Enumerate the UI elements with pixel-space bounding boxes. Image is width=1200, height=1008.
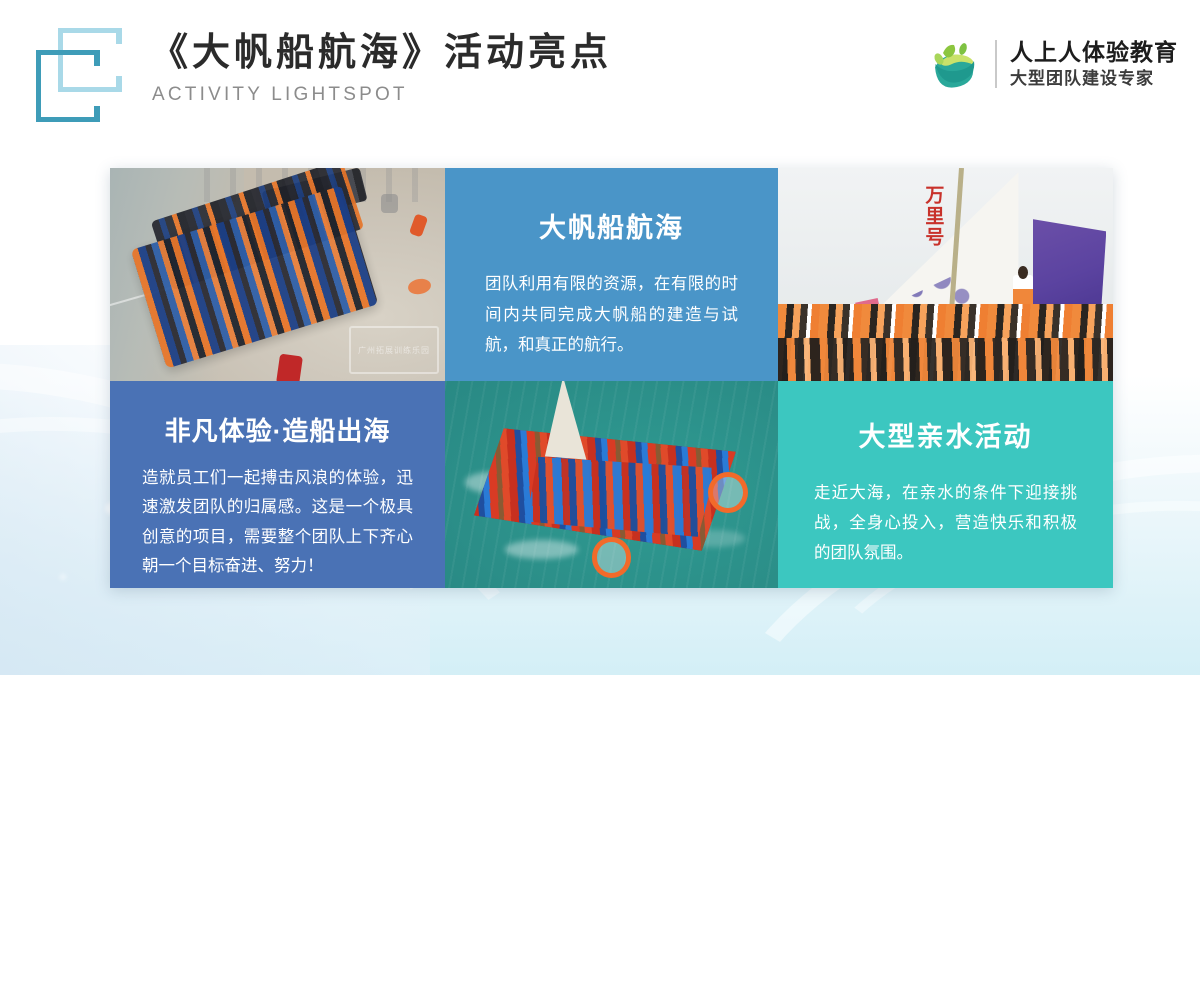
highlight-grid: 广州拓展训练乐园 大帆船航海 团队利用有限的资源，在有限的时间内共同完成大帆船的… [110,168,1113,588]
raft-at-sea-photo [445,381,778,588]
brand-tagline: 大型团队建设专家 [1010,68,1178,89]
card-body: 造就员工们一起搏击风浪的体验，迅速激发团队的归属感。这是一个极具创意的项目，需要… [142,464,413,581]
beach-aerial-photo: 广州拓展训练乐园 [110,168,445,381]
sail-banner-text: 万里号 [922,185,943,248]
card-heading: 大型亲水活动 [778,415,1113,454]
logo-divider [995,40,997,88]
circular-leaf-logo-icon [923,33,985,95]
card-body: 走近大海，在亲水的条件下迎接挑战，全身心投入，营造快乐和积极的团队氛围。 [814,478,1077,568]
card-heading: 非凡体验·造船出海 [110,411,445,448]
page-subtitle: ACTIVITY LIGHTSPOT [152,84,612,106]
sailing-intro-card: 大帆船航海 团队利用有限的资源，在有限的时间内共同完成大帆船的建造与试航，和真正… [445,168,778,381]
card-body: 团队利用有限的资源，在有限的时间内共同完成大帆船的建造与试航，和真正的航行。 [485,269,738,361]
title-group: 《大帆船航海》活动亮点 ACTIVITY LIGHTSPOT [150,30,612,106]
background-bubble-icon [60,574,66,580]
card-heading: 大帆船航海 [445,206,778,245]
extraordinary-experience-card: 非凡体验·造船出海 造就员工们一起搏击风浪的体验，迅速激发团队的归属感。这是一个… [110,381,445,588]
brand-name: 人上人体验教育 [1010,39,1178,66]
sail-flag-crowd-photo: 万里号 [778,168,1113,381]
slide-header: 《大帆船航海》活动亮点 ACTIVITY LIGHTSPOT 人上人体验教育 大… [0,0,1200,150]
double-bracket-icon [36,28,122,122]
water-activity-card: 大型亲水活动 走近大海，在亲水的条件下迎接挑战，全身心投入，营造快乐和积极的团队… [778,381,1113,588]
page-title: 《大帆船航海》活动亮点 [150,30,612,78]
brand-logo: 人上人体验教育 大型团队建设专家 [923,28,1178,100]
photo-watermark: 广州拓展训练乐园 [349,326,439,374]
